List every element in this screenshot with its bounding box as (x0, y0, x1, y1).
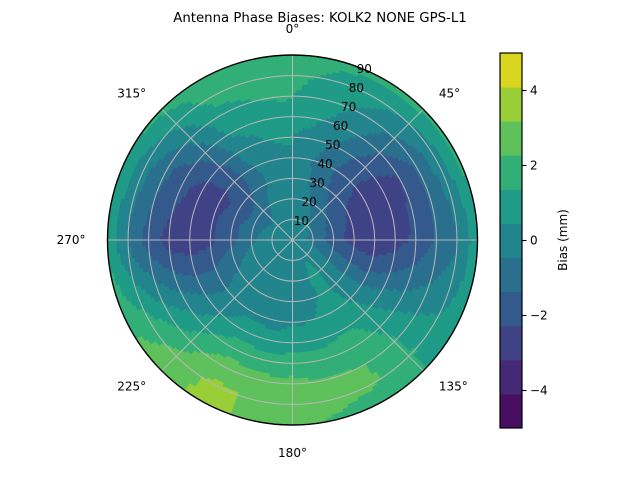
radial-tick-80: 80 (349, 81, 364, 95)
radial-tick-90: 90 (357, 62, 372, 76)
angular-tick-0: 0° (286, 22, 300, 36)
radial-tick-50: 50 (325, 138, 340, 152)
radial-tick-30: 30 (309, 176, 324, 190)
colorbar-tick-label: 4 (530, 84, 538, 98)
radial-tick-20: 20 (302, 195, 317, 209)
figure-canvas: Antenna Phase Biases: KOLK2 NONE GPS-L1 … (0, 0, 640, 480)
page-title: Antenna Phase Biases: KOLK2 NONE GPS-L1 (173, 11, 466, 26)
colorbar-axis-label: Bias (mm) (556, 209, 570, 271)
angular-tick-45: 45° (439, 87, 460, 101)
colorbar-swatch (500, 326, 522, 361)
colorbar-tick-label: 2 (530, 159, 538, 173)
colorbar-swatch (500, 258, 522, 293)
colorbar-swatch (500, 360, 522, 395)
colorbar-swatch (500, 223, 522, 258)
radial-tick-60: 60 (333, 119, 348, 133)
radial-tick-10: 10 (294, 214, 309, 228)
radial-tick-70: 70 (341, 100, 356, 114)
colorbar-swatch (500, 394, 522, 429)
angular-tick-270: 270° (57, 233, 86, 247)
colorbar-swatch (500, 155, 522, 190)
colorbar-tick-label: −4 (530, 384, 548, 398)
angular-tick-315: 315° (117, 87, 146, 101)
angular-tick-180: 180° (278, 446, 307, 460)
colorbar-swatches (500, 53, 522, 429)
polar-gridlines (108, 55, 478, 425)
colorbar-swatch (500, 292, 522, 327)
colorbar-swatch (500, 87, 522, 122)
angular-tick-225: 225° (117, 379, 146, 393)
radial-tick-40: 40 (317, 157, 332, 171)
colorbar-tick-label: −2 (530, 309, 548, 323)
angular-tick-135: 135° (439, 379, 468, 393)
colorbar-swatch (500, 53, 522, 88)
colorbar-tick-label: 0 (530, 234, 538, 248)
colorbar-swatch (500, 189, 522, 224)
colorbar-swatch (500, 121, 522, 156)
